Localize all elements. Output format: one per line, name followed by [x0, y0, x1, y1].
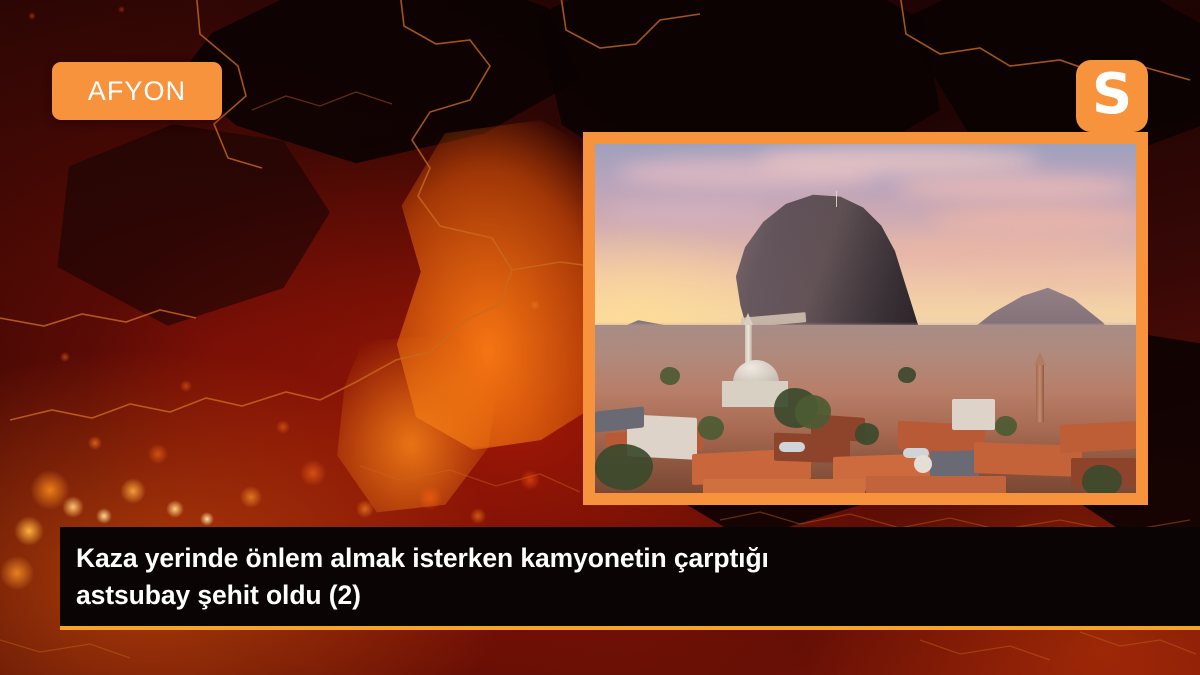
photo-frame — [583, 132, 1148, 505]
city-badge-label: AFYON — [88, 78, 187, 105]
photo-tree — [855, 423, 879, 445]
photo-tree — [1082, 465, 1122, 493]
photo-water-tank — [779, 442, 805, 452]
photo-cloud — [606, 200, 768, 224]
caption-bar: Kaza yerinde önlem almak isterken kamyon… — [60, 527, 1200, 626]
photo-satellite-dish — [914, 455, 932, 473]
brand-logo[interactable]: S — [1076, 60, 1148, 132]
photo-tree — [698, 416, 724, 440]
photo-tree — [595, 444, 653, 490]
brand-logo-mark: S — [1092, 67, 1132, 123]
photo-minaret — [1036, 364, 1044, 422]
headline-line-1: Kaza yerinde önlem almak isterken kamyon… — [76, 540, 1006, 577]
news-card: AFYON S — [0, 0, 1200, 675]
photo-cloud — [930, 207, 1136, 235]
headline-line-2: astsubay şehit oldu (2) — [76, 577, 1006, 614]
photo-cloud — [898, 175, 1136, 199]
photo-roof — [1060, 421, 1136, 453]
photo-roof — [866, 476, 1007, 493]
photo-roof — [952, 399, 995, 430]
caption-underline — [60, 626, 1200, 630]
city-badge: AFYON — [52, 62, 222, 120]
photo-flagpole — [836, 191, 837, 207]
news-photo — [595, 144, 1136, 493]
photo-roof — [703, 479, 865, 493]
